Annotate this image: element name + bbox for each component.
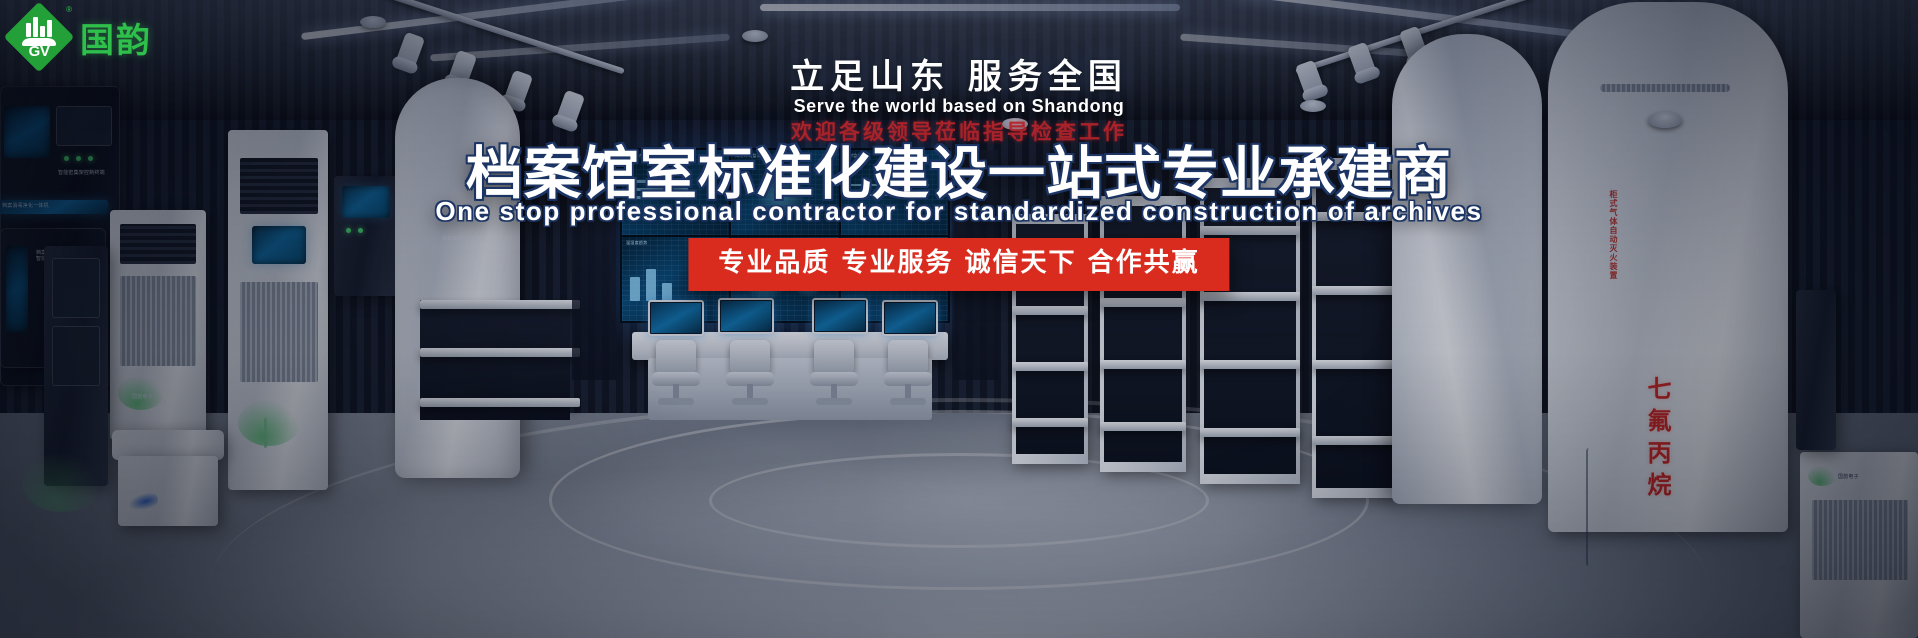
slogan-cta-button[interactable]: 专业品质 专业服务 诚信天下 合作共赢: [688, 238, 1229, 291]
registered-trademark-icon: ®: [66, 5, 72, 14]
hero-headline-en: One stop professional contractor for sta…: [0, 196, 1918, 227]
hero-eyebrow-cn: 立足山东 服务全国: [0, 49, 1918, 98]
hero-banner: 智能密集架控制终端 档案消毒净化一体机 档案库房环境智能监控系统 国韵电子 恒温…: [0, 0, 1918, 638]
hero-overlay: GV ® 国韵 立足山东 服务全国 Serve the world based …: [0, 0, 1918, 638]
hero-eyebrow-en: Serve the world based on Shandong: [0, 96, 1918, 117]
building-icon: [26, 17, 52, 37]
